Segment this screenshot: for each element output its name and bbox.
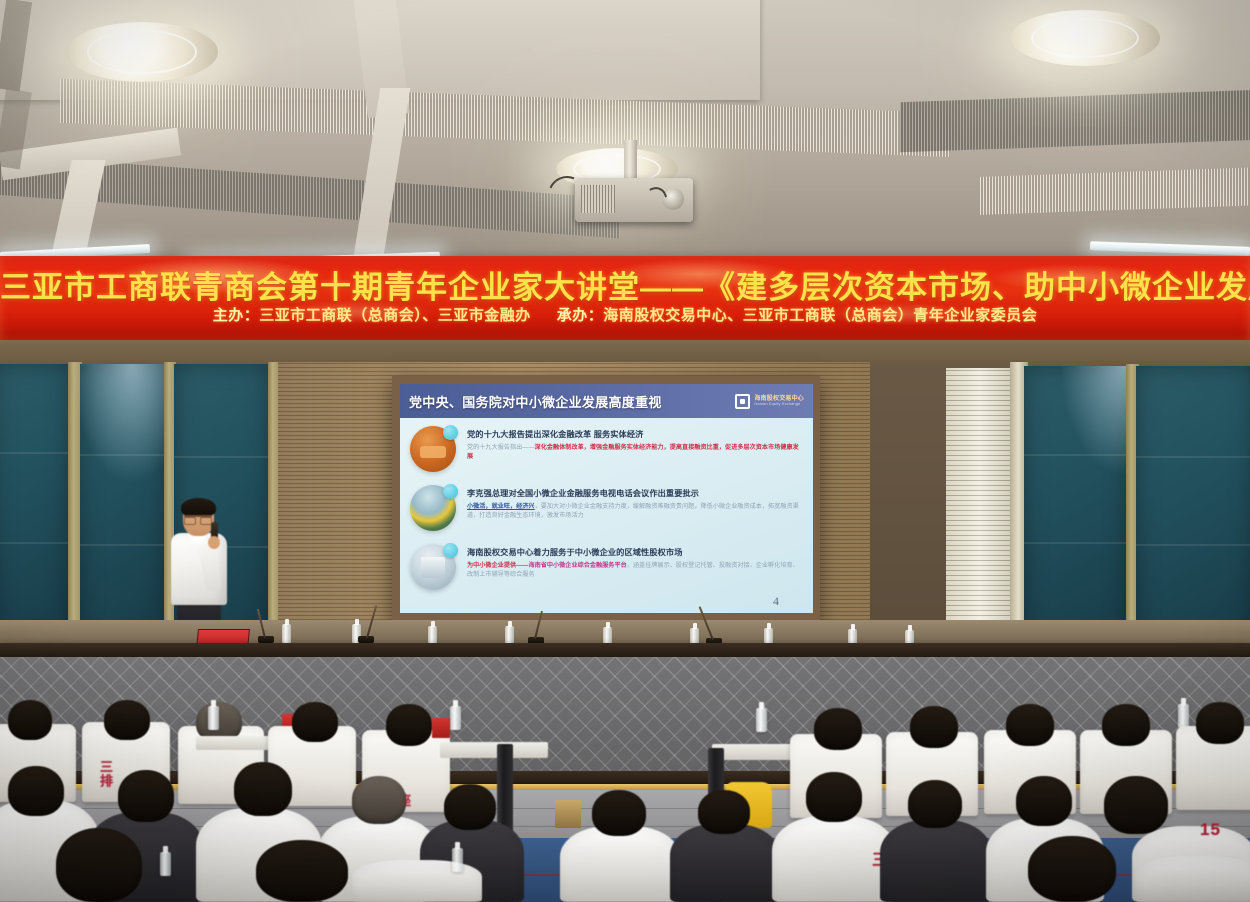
wall-louver-panel <box>946 368 1014 636</box>
logo-mark-icon <box>735 394 750 409</box>
globe-green-icon <box>410 485 456 531</box>
audience-head <box>814 708 862 750</box>
ceiling <box>0 0 1250 262</box>
logo-en-name: Hainan Equity Exchange <box>754 402 804 406</box>
water-bottle <box>282 624 291 643</box>
bullet-heading: 李克强总理对全国小微企业金融服务电视电话会议作出重要批示 <box>467 487 803 499</box>
bullet-body-prefix: 党的十九大报告指出—— <box>467 444 535 451</box>
audience-shoulders <box>880 820 992 902</box>
slide-bullet: 党的十九大报告提出深化金融改革 服务实体经济 党的十九大报告指出——深化金融体制… <box>410 426 803 472</box>
bullet-body-highlight: 深化金融体制改革，增强金融服务实体经济能力，提 <box>535 444 676 451</box>
water-bottle <box>160 852 171 876</box>
wall-panel-teal-left2 <box>80 364 166 646</box>
round-ceiling-lamp <box>66 22 218 82</box>
conference-hall-photo: 三亚市工商联青商会第十期青年企业家大讲堂——《建多层次资本市场、助中小微企业发展… <box>0 0 1250 902</box>
audience-head <box>352 776 406 824</box>
event-banner: 三亚市工商联青商会第十期青年企业家大讲堂——《建多层次资本市场、助中小微企业发展… <box>0 256 1250 340</box>
bullet-heading: 党的十九大报告提出深化金融改革 服务实体经济 <box>467 428 803 440</box>
audience-head <box>234 762 292 816</box>
audience-head <box>1016 776 1072 826</box>
audience-head <box>104 700 150 740</box>
audience-head <box>8 766 64 816</box>
slide-title: 党中央、国务院对中小微企业发展高度重视 <box>409 392 662 411</box>
floor-outlet-box <box>555 800 581 828</box>
audience-head <box>118 770 174 822</box>
wall-panel-teal-left <box>0 364 70 644</box>
gooseneck-microphone <box>258 636 274 643</box>
audience-head <box>592 790 646 836</box>
audience-head <box>256 840 348 902</box>
bullet-body: 党的十九大报告指出——深化金融体制改革，增强金融服务实体经济能力，提高直接融资比… <box>467 443 803 461</box>
wall-panel-teal-right <box>1024 366 1128 648</box>
audience-shoulders <box>560 826 680 902</box>
wall-panel-teal-right2 <box>1136 366 1250 648</box>
bullet-body: 为中小微企业提供——海南省中小微企业综合金融服务平台，涵盖挂牌展示、股权登记托管… <box>467 561 803 579</box>
bullet-body: 小微活，就业旺，经济兴，要加大对小微企业金融支持力度，缓解融资难融资贵问题，降低… <box>467 502 803 520</box>
audience-shoulders <box>670 824 780 902</box>
audience-head <box>1104 776 1168 834</box>
slide-body: 党的十九大报告提出深化金融改革 服务实体经济 党的十九大报告指出——深化金融体制… <box>410 426 803 605</box>
audience-head <box>1196 702 1244 744</box>
banner-main-title: 三亚市工商联青商会第十期青年企业家大讲堂——《建多层次资本市场、助中小微企业发展… <box>0 262 1250 307</box>
chair-row-label: 三排 <box>96 760 115 788</box>
presenter-hand <box>208 536 220 549</box>
chair-number-label: 15 <box>1200 820 1221 840</box>
gavel-orange-icon <box>410 426 456 472</box>
projector-vent-icon <box>581 185 615 213</box>
audience-head <box>444 784 496 830</box>
icon-badge <box>443 543 458 558</box>
glasses-icon <box>184 515 212 521</box>
organizer-label: 主办： <box>213 307 260 324</box>
audience-head <box>806 772 862 822</box>
cohost-text: 海南股权交易中心、三亚市工商联（总商会）青年企业家委员会 <box>603 307 1037 324</box>
audience-head <box>56 828 142 902</box>
audience-head <box>1028 836 1116 902</box>
slide-bullet: 海南股权交易中心着力服务于中小微企业的区域性股权市场 为中小微企业提供——海南省… <box>410 544 803 590</box>
audience-head <box>8 700 52 740</box>
water-bottle <box>452 848 463 872</box>
audience-head <box>1006 704 1054 746</box>
water-bottle <box>208 706 219 730</box>
hainan-equity-logo: 海南股权交易中心 Hainan Equity Exchange <box>735 394 804 409</box>
audience-head <box>908 780 962 828</box>
icon-badge <box>443 484 458 499</box>
slide-bullet: 李克强总理对全国小微企业金融服务电视电话会议作出重要批示 小微活，就业旺，经济兴… <box>410 485 803 531</box>
bullet-body-highlight: 海南省中小微企业综合金融服务平台 <box>528 562 626 569</box>
projection-screen: 党中央、国务院对中小微企业发展高度重视 海南股权交易中心 Hainan Equi… <box>392 376 820 623</box>
water-bottle <box>450 706 461 730</box>
water-bottle <box>1178 704 1189 728</box>
presentation-slide: 党中央、国务院对中小微企业发展高度重视 海南股权交易中心 Hainan Equi… <box>400 384 813 613</box>
bullet-body-prefix: 为中小微企业提供—— <box>467 562 528 569</box>
audience-head <box>910 706 958 748</box>
red-placard <box>432 718 450 738</box>
slide-header: 党中央、国务院对中小微企业发展高度重视 海南股权交易中心 Hainan Equi… <box>400 384 813 418</box>
icon-badge <box>443 425 458 440</box>
audience-shoulders <box>1136 856 1250 902</box>
audience-head <box>292 702 338 742</box>
cohost-label: 承办： <box>557 307 604 324</box>
organizer-text: 三亚市工商联（总商会）、三亚市金融办 <box>259 307 531 324</box>
bullet-heading: 海南股权交易中心着力服务于中小微企业的区域性股权市场 <box>467 546 803 558</box>
audience-head <box>698 790 750 834</box>
audience-head <box>386 704 432 746</box>
bullet-body-prefix: 小微活，就业旺，经济兴 <box>467 503 535 510</box>
banner-subtitle: 主办：三亚市工商联（总商会）、三亚市金融办承办：海南股权交易中心、三亚市工商联（… <box>0 304 1250 325</box>
slide-page-number: 4 <box>773 594 779 609</box>
audience-head <box>1102 704 1150 746</box>
water-bottle <box>756 708 767 732</box>
fluorescent-strip-light <box>1090 241 1250 256</box>
round-ceiling-lamp <box>1010 10 1160 66</box>
building-blue-icon <box>410 544 456 590</box>
audience-desk <box>440 742 548 758</box>
